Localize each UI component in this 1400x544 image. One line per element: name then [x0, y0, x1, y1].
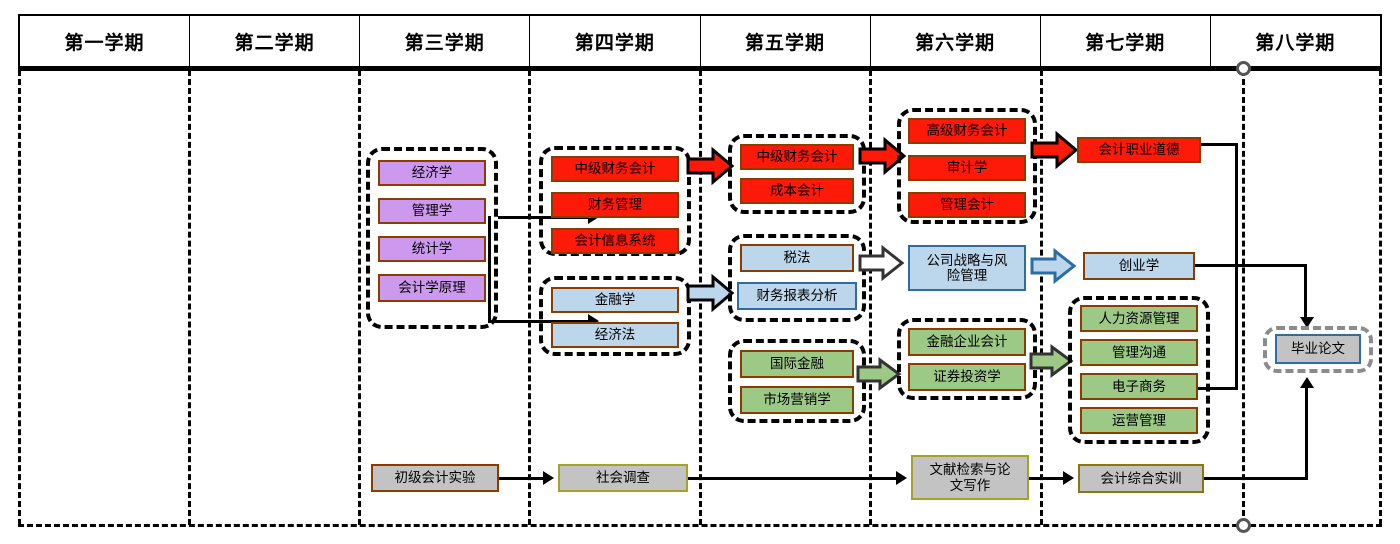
connector-s3-branch-vertical — [488, 216, 491, 323]
bottom-border — [18, 524, 1382, 527]
course-box-guanli-goutong[interactable]: 管理沟通 — [1080, 339, 1198, 366]
course-box-caiwu-guanli[interactable]: 财务管理 — [551, 192, 679, 218]
semester-header-6: 第六学期 — [871, 16, 1041, 66]
course-box-zhengquan-touzixue[interactable]: 证券投资学 — [908, 363, 1026, 391]
arrowhead-practice-to-survey — [543, 471, 554, 485]
course-box-biye-lunwen[interactable]: 毕业论文 — [1275, 334, 1361, 364]
course-box-shehui-diaocha[interactable]: 社会调查 — [558, 464, 688, 492]
block-arrow-s4-blue-to-s5-blue — [686, 275, 734, 311]
semester-header-4: 第四学期 — [530, 16, 700, 66]
course-box-chengben-kuaiji[interactable]: 成本会计 — [740, 178, 854, 204]
block-arrow-s5-green-to-s6-green — [856, 358, 902, 390]
course-box-shuifa[interactable]: 税法 — [740, 244, 854, 272]
connector-survey-to-literature — [688, 477, 898, 480]
course-label-line2: 文写作 — [950, 478, 991, 493]
semester-header-8: 第八学期 — [1211, 16, 1380, 66]
semester-header-3: 第三学期 — [360, 16, 530, 66]
course-box-kuaiji-zonghe-shixun[interactable]: 会计综合实训 — [1078, 464, 1204, 493]
course-box-caiwu-baobiao-fenxi[interactable]: 财务报表分析 — [737, 282, 857, 310]
course-box-wenxian-jiansuo[interactable]: 文献检索与论 文写作 — [911, 455, 1029, 500]
column-separator-2 — [358, 70, 361, 525]
connector-literature-to-comprehensive — [1029, 477, 1065, 480]
semester-header-2: 第二学期 — [190, 16, 360, 66]
course-box-renli-ziyuan-guanli[interactable]: 人力资源管理 — [1080, 305, 1198, 332]
joint-marker-top — [1236, 61, 1251, 76]
course-box-kuaijixue-yuanli[interactable]: 会计学原理 — [378, 274, 486, 302]
course-label-line1: 公司战略与风 — [927, 253, 1008, 268]
course-box-chuji-kuaiji-shiyan[interactable]: 初级会计实验 — [371, 464, 499, 492]
course-box-chuangyexue[interactable]: 创业学 — [1083, 252, 1195, 280]
course-box-kuaiji-xinxi-xitong[interactable]: 会计信息系统 — [551, 228, 679, 254]
connector-s7-green-right — [1198, 387, 1238, 390]
arrowhead-literature-to-comprehensive — [1063, 471, 1074, 485]
course-box-jinrongxue[interactable]: 金融学 — [551, 287, 679, 313]
semester-header-7: 第七学期 — [1041, 16, 1211, 66]
course-label-line2: 险管理 — [947, 268, 988, 283]
course-box-jinrong-qiye-kuaiji[interactable]: 金融企业会计 — [908, 328, 1026, 356]
column-separator-0 — [18, 70, 21, 525]
course-box-yunying-guanli[interactable]: 运营管理 — [1080, 407, 1198, 434]
course-box-guanlixue[interactable]: 管理学 — [378, 198, 486, 224]
connector-comprehensive-up — [1305, 388, 1308, 478]
block-arrow-s6-strategy-to-s7-entrepreneur — [1030, 249, 1076, 283]
connector-to-thesis-down — [1304, 264, 1307, 319]
connector-entrepreneur-right — [1195, 264, 1238, 267]
connector-to-thesis-top — [1235, 264, 1307, 267]
course-box-zhongji-caiwu-kuaiji-s4[interactable]: 中级财务会计 — [551, 156, 679, 182]
column-separator-8 — [1379, 70, 1382, 525]
course-box-zhongji-caiwu-kuaiji-s5[interactable]: 中级财务会计 — [740, 144, 854, 170]
semester-header-1: 第一学期 — [20, 16, 190, 66]
connector-comprehensive-right — [1204, 477, 1308, 480]
block-arrow-s6-red-to-s7-ethics — [1030, 132, 1078, 168]
block-arrow-s5-blue-to-s6-strategy — [858, 246, 904, 280]
course-box-jingjixue[interactable]: 经济学 — [378, 160, 486, 186]
course-box-kuaiji-zhiye-daode[interactable]: 会计职业道德 — [1077, 137, 1201, 163]
course-box-shenjixue[interactable]: 审计学 — [908, 155, 1026, 181]
course-box-guoji-jinrong[interactable]: 国际金融 — [740, 350, 854, 378]
column-separator-3 — [528, 70, 531, 525]
column-separator-1 — [188, 70, 191, 525]
block-arrow-s6-green-to-s7-green — [1029, 345, 1073, 377]
course-label-line1: 文献检索与论 — [930, 462, 1011, 477]
arrowhead-survey-to-literature — [896, 471, 907, 485]
connector-ethics-right — [1201, 143, 1238, 146]
curriculum-flowchart: 第一学期 第二学期 第三学期 第四学期 第五学期 第六学期 第七学期 第八学期 … — [0, 0, 1400, 544]
course-box-jingjifa[interactable]: 经济法 — [551, 322, 679, 348]
semester-header-5: 第五学期 — [701, 16, 871, 66]
arrowhead-to-thesis-bottom — [1300, 377, 1314, 388]
course-box-guanli-kuaiji[interactable]: 管理会计 — [908, 192, 1026, 218]
connector-practice-to-survey — [499, 477, 545, 480]
joint-marker-bottom — [1236, 518, 1251, 533]
course-box-dianzi-shangwu[interactable]: 电子商务 — [1080, 373, 1198, 400]
course-box-gongsi-zhanlue[interactable]: 公司战略与风 险管理 — [908, 245, 1026, 291]
course-box-gaoji-caiwu-kuaiji[interactable]: 高级财务会计 — [908, 118, 1026, 144]
column-separator-7 — [1242, 70, 1245, 525]
semester-header-row: 第一学期 第二学期 第三学期 第四学期 第五学期 第六学期 第七学期 第八学期 — [18, 14, 1382, 68]
block-arrow-s4-red-to-s5-red — [686, 148, 734, 184]
course-box-shichang-yingxiaoxue[interactable]: 市场营销学 — [740, 386, 854, 414]
course-box-tongjixue[interactable]: 统计学 — [378, 236, 486, 262]
